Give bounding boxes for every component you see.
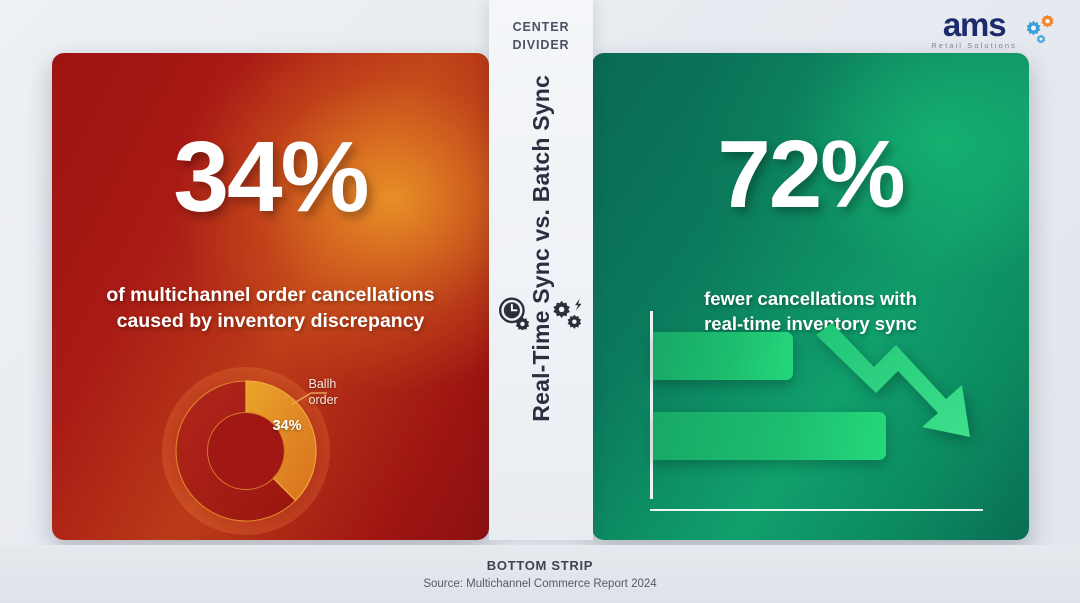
right-stat-number: 72% [592,127,1029,223]
gear-orange-icon [1039,14,1056,31]
divider-vertical-text: Real-Time Sync vs. Batch Sync [489,88,593,408]
logo-text: ams Retail Solutions [931,8,1017,50]
bar-realtime-sync [653,332,793,380]
bottom-strip-source: Source: Multichannel Commerce Report 202… [423,578,656,590]
right-caption-line1: fewer cancellations with [612,287,1009,312]
logo-wordmark: ams [943,8,1005,41]
center-divider: CENTER DIVIDER Real-Time Sync vs. Batch … [489,0,593,540]
left-caption-line2: caused by inventory discrepancy [72,309,469,335]
left-stat-number: 34% [52,127,489,227]
bar-chart [650,311,995,511]
donut-chart-wrap: 34% Ballh order [52,361,489,540]
donut-chart: 34% Ballh order [161,361,381,540]
logo-gear-cluster [1024,14,1058,48]
donut-callout-line1: Ballh [309,377,367,393]
downward-trend-arrow-icon [810,319,995,479]
divider-icon-row [489,296,593,330]
gears-bolt-icon [551,296,585,330]
bottom-strip: BOTTOM STRIP Source: Multichannel Commer… [0,545,1080,603]
batch-sync-panel: 34% of multichannel order cancellations … [52,53,489,540]
realtime-sync-panel: 72% fewer cancellations with real-time i… [592,53,1029,540]
left-stat-caption: of multichannel order cancellations caus… [72,283,469,335]
donut-value-label: 34% [273,418,302,434]
divider-title: CENTER DIVIDER [489,18,593,54]
left-caption-line1: of multichannel order cancellations [72,283,469,309]
divider-title-line2: DIVIDER [489,36,593,54]
gear-blue-small-icon [1035,34,1047,46]
infographic-canvas: ams Retail Solutions 34% of multichannel… [0,0,1080,603]
divider-vertical-label: Real-Time Sync vs. Batch Sync [528,75,555,422]
chart-x-axis [650,509,983,512]
divider-title-line1: CENTER [489,18,593,36]
logo-tagline: Retail Solutions [931,42,1017,50]
bottom-strip-title: BOTTOM STRIP [487,558,593,573]
clock-gear-icon [497,296,531,330]
ams-logo[interactable]: ams Retail Solutions [931,8,1058,50]
donut-callout-line2: order [309,393,367,409]
donut-callout-label: Ballh order [309,377,367,408]
